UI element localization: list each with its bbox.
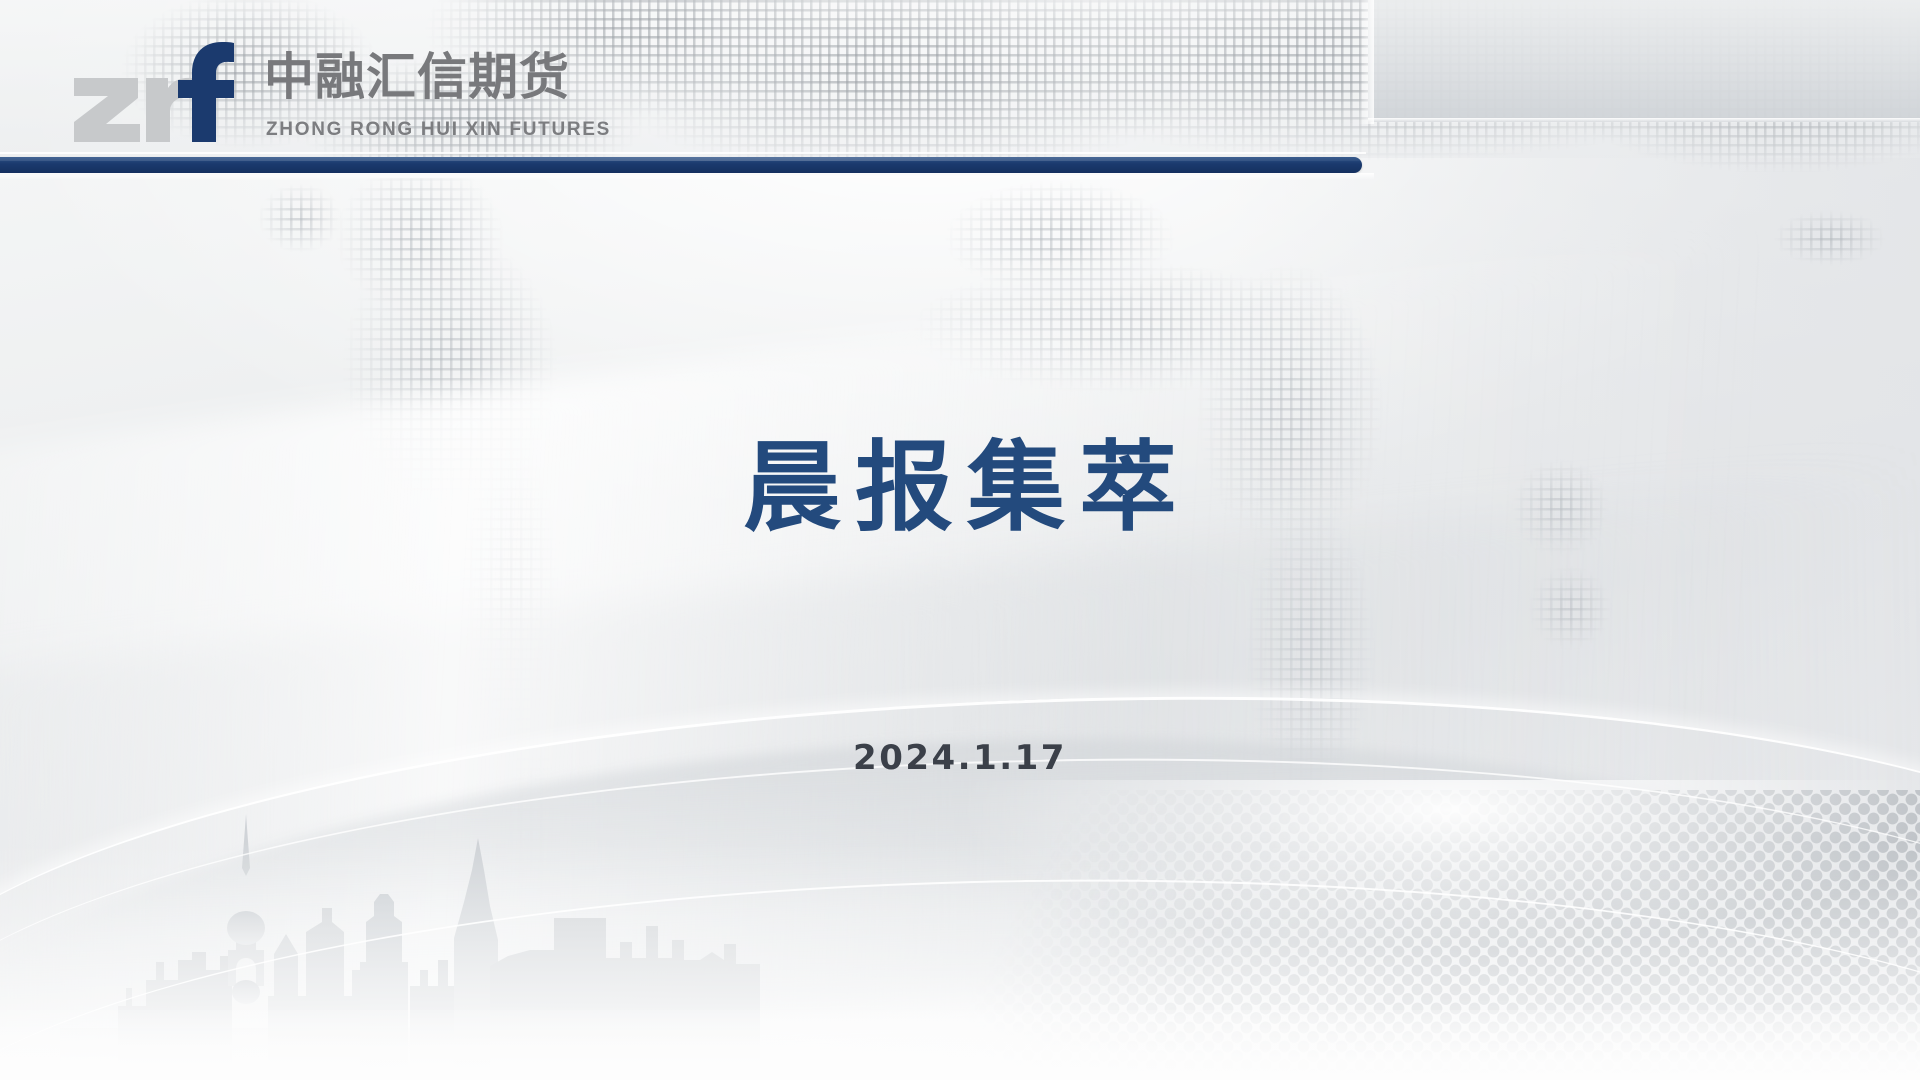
header-step-highlight bbox=[1358, 0, 1374, 124]
header-hairline bbox=[0, 152, 1366, 154]
background-bottom-white bbox=[0, 1010, 1920, 1080]
company-name-cn: 中融汇信期货 bbox=[264, 52, 570, 102]
presentation-slide: 中融汇信期货 ZHONG RONG HUI XIN FUTURES 晨报集萃 2… bbox=[0, 0, 1920, 1080]
company-logo: 中融汇信期货 ZHONG RONG HUI XIN FUTURES bbox=[72, 34, 492, 142]
header-navy-rule-underglow bbox=[0, 173, 1374, 180]
page-title: 晨报集萃 bbox=[0, 437, 1920, 540]
company-name-en: ZHONG RONG HUI XIN FUTURES bbox=[266, 120, 611, 139]
zrf-logo-mark-icon bbox=[72, 40, 236, 144]
header-band-right-highlight bbox=[1368, 118, 1920, 123]
header-navy-rule-gloss bbox=[0, 157, 1362, 161]
slide-date: 2024.1.17 bbox=[0, 740, 1920, 777]
header-band-right-block bbox=[1368, 0, 1920, 122]
